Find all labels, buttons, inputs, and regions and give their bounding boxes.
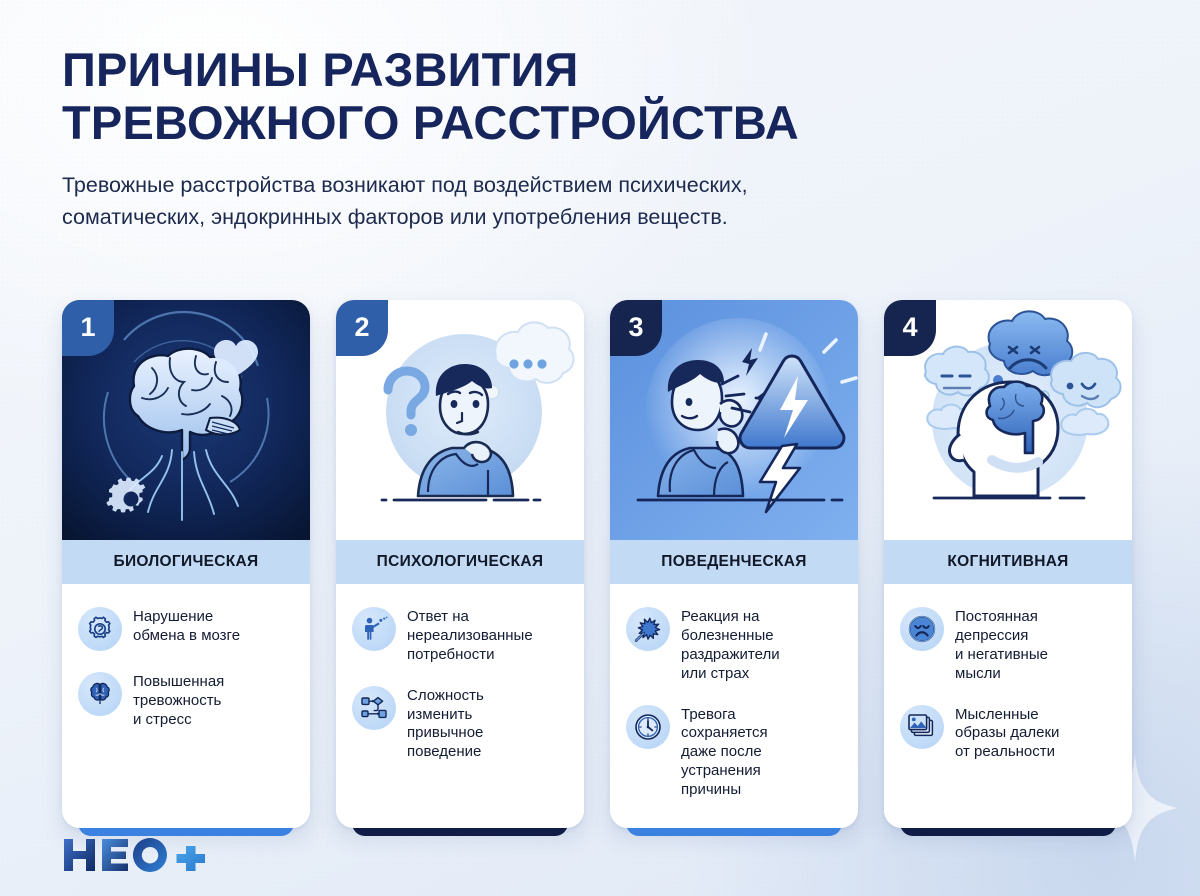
card-label: ПСИХОЛОГИЧЕСКАЯ <box>377 553 544 571</box>
cause-card-1[interactable]: 1БИОЛОГИЧЕСКАЯНарушение обмена в мозгеПо… <box>62 300 310 828</box>
card-label-band: ПСИХОЛОГИЧЕСКАЯ <box>336 540 584 584</box>
sad-face-icon <box>900 607 944 651</box>
list-item-text: Нарушение обмена в мозге <box>133 606 240 646</box>
gear-brain-icon <box>78 607 122 651</box>
card-label: БИОЛОГИЧЕСКАЯ <box>114 553 259 571</box>
clock-icon <box>626 705 670 749</box>
card-inner: 1БИОЛОГИЧЕСКАЯНарушение обмена в мозгеПо… <box>62 300 310 828</box>
brand-logo <box>62 832 212 878</box>
card-item-list: Постоянная депрессия и негативные мыслиМ… <box>884 584 1132 828</box>
person-reaching-icon <box>352 607 396 651</box>
card-item-list: Ответ на нереализованные потребностиСлож… <box>336 584 584 828</box>
card-label-band: КОГНИТИВНАЯ <box>884 540 1132 584</box>
cause-card-2[interactable]: 2ПСИХОЛОГИЧЕСКАЯОтвет на нереализованные… <box>336 300 584 828</box>
card-number-badge: 3 <box>610 300 662 356</box>
cards-row: 1БИОЛОГИЧЕСКАЯНарушение обмена в мозгеПо… <box>62 300 1134 828</box>
list-item-text: Ответ на нереализованные потребности <box>407 606 533 665</box>
list-item: Постоянная депрессия и негативные мысли <box>900 606 1118 684</box>
header: ПРИЧИНЫ РАЗВИТИЯ ТРЕВОЖНОГО РАССТРОЙСТВА… <box>62 44 1152 233</box>
neo-plus-logo-icon <box>62 833 212 877</box>
card-number-badge: 2 <box>336 300 388 356</box>
list-item: Ответ на нереализованные потребности <box>352 606 570 665</box>
images-icon <box>900 705 944 749</box>
card-number-badge: 4 <box>884 300 936 356</box>
list-item: Реакция на болезненные раздражители или … <box>626 606 844 684</box>
card-label-band: БИОЛОГИЧЕСКАЯ <box>62 540 310 584</box>
card-inner: 3ПОВЕДЕНЧЕСКАЯРеакция на болезненные раз… <box>610 300 858 828</box>
card-illustration: 2 <box>336 300 584 540</box>
list-item: Нарушение обмена в мозге <box>78 606 296 651</box>
list-item: Мысленные образы далеки от реальности <box>900 704 1118 763</box>
card-inner: 2ПСИХОЛОГИЧЕСКАЯОтвет на нереализованные… <box>336 300 584 828</box>
card-illustration: 3 <box>610 300 858 540</box>
burst-icon <box>626 607 670 651</box>
card-label: ПОВЕДЕНЧЕСКАЯ <box>661 553 806 571</box>
page-subtitle: Тревожные расстройства возникают под воз… <box>62 170 1152 233</box>
list-item-text: Сложность изменить привычное поведение <box>407 685 484 763</box>
cause-card-3[interactable]: 3ПОВЕДЕНЧЕСКАЯРеакция на болезненные раз… <box>610 300 858 828</box>
card-label-band: ПОВЕДЕНЧЕСКАЯ <box>610 540 858 584</box>
list-item: Сложность изменить привычное поведение <box>352 685 570 763</box>
list-item-text: Тревога сохраняется даже после устранени… <box>681 704 768 800</box>
cause-card-4[interactable]: 4КОГНИТИВНАЯПостоянная депрессия и негат… <box>884 300 1132 828</box>
list-item: Повышенная тревожность и стресс <box>78 671 296 730</box>
list-item-text: Реакция на болезненные раздражители или … <box>681 606 780 684</box>
card-label: КОГНИТИВНАЯ <box>947 553 1068 571</box>
card-illustration: 1 <box>62 300 310 540</box>
card-item-list: Нарушение обмена в мозгеПовышенная трево… <box>62 584 310 828</box>
flowchart-icon <box>352 686 396 730</box>
list-item-text: Мысленные образы далеки от реальности <box>955 704 1059 763</box>
card-illustration: 4 <box>884 300 1132 540</box>
page-title: ПРИЧИНЫ РАЗВИТИЯ ТРЕВОЖНОГО РАССТРОЙСТВА <box>62 44 1152 149</box>
card-number-badge: 1 <box>62 300 114 356</box>
list-item-text: Постоянная депрессия и негативные мысли <box>955 606 1048 684</box>
list-item: Тревога сохраняется даже после устранени… <box>626 704 844 800</box>
card-item-list: Реакция на болезненные раздражители или … <box>610 584 858 828</box>
card-inner: 4КОГНИТИВНАЯПостоянная депрессия и негат… <box>884 300 1132 828</box>
list-item-text: Повышенная тревожность и стресс <box>133 671 224 730</box>
brain-icon <box>78 672 122 716</box>
